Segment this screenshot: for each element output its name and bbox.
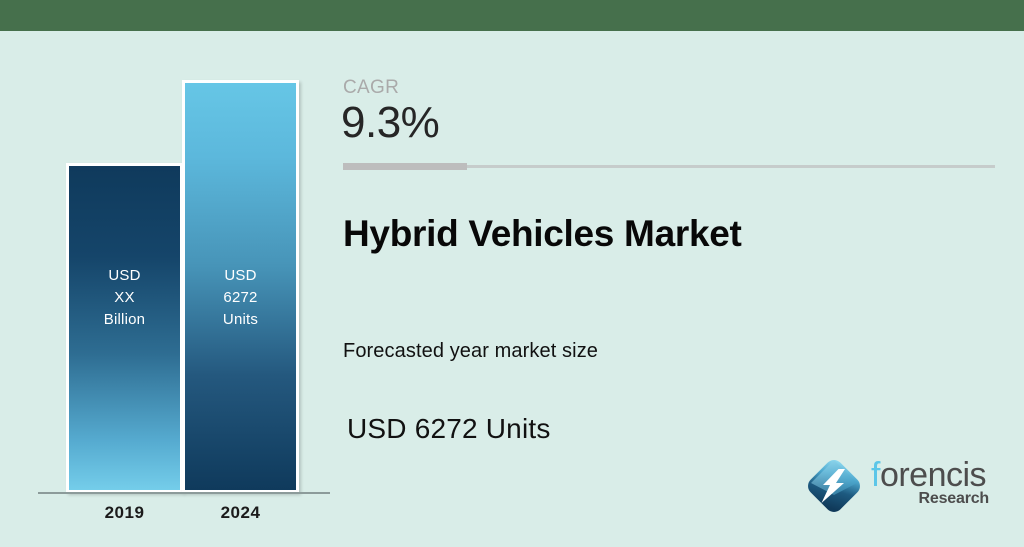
page-title: Hybrid Vehicles Market xyxy=(343,213,742,255)
cagr-value: 9.3% xyxy=(341,99,439,147)
bar-2019-label-line2: XX xyxy=(69,287,180,309)
forencis-f-letter: f xyxy=(871,456,880,494)
cagr-progress-fill xyxy=(343,163,467,170)
bar-2024-label-line1: USD xyxy=(185,265,296,287)
cagr-label: CAGR xyxy=(343,77,399,99)
forencis-research-subtitle: Research xyxy=(919,490,989,508)
forencis-word: forencis xyxy=(871,457,986,493)
bar-2024: USD 6272 Units xyxy=(182,80,299,493)
top-green-band xyxy=(0,0,1024,31)
bar-2019-label-line3: Billion xyxy=(69,309,180,331)
x-axis-line xyxy=(38,492,330,494)
x-axis-tick-labels: 2019 2024 xyxy=(38,503,330,533)
forencis-diamond-icon xyxy=(803,455,865,517)
bar-2024-label-line2: 6272 xyxy=(185,287,296,309)
infographic-root: USD XX Billion USD 6272 Units 2019 2024 … xyxy=(0,0,1024,547)
forencis-logo: forencis Research xyxy=(803,449,993,519)
bar-2024-label: USD 6272 Units xyxy=(185,265,296,331)
forencis-rest-letters: orencis xyxy=(880,456,986,494)
bar-chart: USD XX Billion USD 6272 Units 2019 2024 xyxy=(0,31,340,547)
cagr-progress-track xyxy=(343,165,995,168)
bar-2024-label-line3: Units xyxy=(185,309,296,331)
bar-2019-label: USD XX Billion xyxy=(69,265,180,331)
forecast-label: Forecasted year market size xyxy=(343,340,598,363)
forecast-value: USD 6272 Units xyxy=(347,413,551,445)
bar-2019: USD XX Billion xyxy=(66,163,183,493)
info-panel: CAGR 9.3% Hybrid Vehicles Market Forecas… xyxy=(343,31,1003,547)
bar-2019-label-line1: USD xyxy=(69,265,180,287)
tick-label-2019: 2019 xyxy=(66,503,183,523)
forencis-wordmark: forencis Research xyxy=(871,457,991,515)
tick-label-2024: 2024 xyxy=(182,503,299,523)
